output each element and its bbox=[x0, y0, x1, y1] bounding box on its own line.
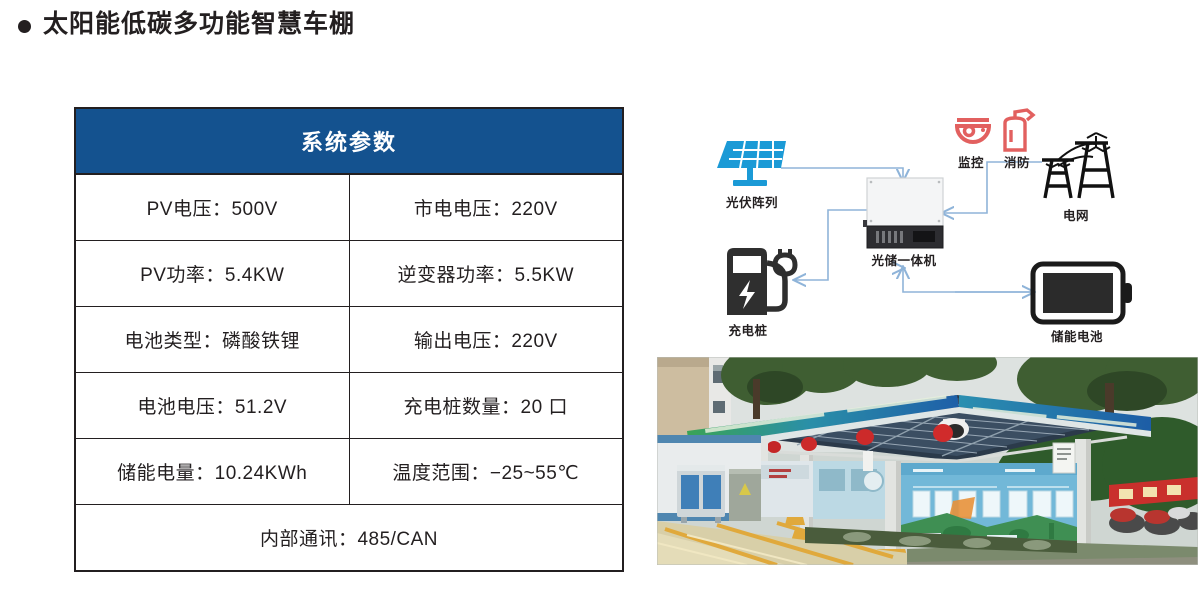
diagram-label-inverter: 光储一体机 bbox=[871, 250, 936, 269]
diagram-label-pv: 光伏阵列 bbox=[726, 192, 778, 211]
table-row: PV功率：5.4KW 逆变器功率：5.5KW bbox=[76, 241, 622, 307]
diagram-label-battery: 储能电池 bbox=[1051, 326, 1103, 345]
table-cell: 输出电压：220V bbox=[350, 307, 623, 372]
ev-charger-icon bbox=[727, 248, 795, 315]
table-cell: 储能电量：10.24KWh bbox=[76, 439, 350, 504]
diagram-label-grid: 电网 bbox=[1063, 205, 1089, 224]
diagram-canvas bbox=[655, 100, 1200, 350]
table-cell: 内部通讯：485/CAN bbox=[76, 505, 622, 570]
inverter-cabinet-icon bbox=[863, 178, 943, 248]
fire-extinguisher-icon bbox=[1005, 110, 1033, 150]
table-cell: 电池电压：51.2V bbox=[76, 373, 350, 438]
bullet-dot-icon bbox=[18, 20, 31, 33]
solar-carport-photo bbox=[657, 357, 1198, 565]
table-cell: 市电电压：220V bbox=[350, 175, 623, 240]
table-cell: PV功率：5.4KW bbox=[76, 241, 350, 306]
camera-led-icon bbox=[981, 128, 985, 132]
diagram-label-monitor: 监控 bbox=[958, 152, 984, 171]
table-row-merged: 内部通讯：485/CAN bbox=[76, 505, 622, 570]
table-cell: 温度范围：−25~55℃ bbox=[350, 439, 623, 504]
table-cell: PV电压：500V bbox=[76, 175, 350, 240]
page-title-text: 太阳能低碳多功能智慧车棚 bbox=[43, 12, 355, 37]
table-row: 电池类型：磷酸铁锂 输出电压：220V bbox=[76, 307, 622, 373]
table-cell: 电池类型：磷酸铁锂 bbox=[76, 307, 350, 372]
system-parameters-table: 系统参数 PV电压：500V 市电电压：220V PV功率：5.4KW 逆变器功… bbox=[74, 107, 624, 572]
flow-battery-to-inverter bbox=[903, 268, 1030, 292]
table-header-label: 系统参数 bbox=[301, 125, 397, 157]
table-header-row: 系统参数 bbox=[76, 109, 622, 175]
power-tower-icon bbox=[1042, 133, 1113, 198]
table-cell: 充电桩数量：20 口 bbox=[350, 373, 623, 438]
table-row: 储能电量：10.24KWh 温度范围：−25~55℃ bbox=[76, 439, 622, 505]
solar-panel-icon bbox=[717, 141, 786, 186]
diagram-label-charger: 充电桩 bbox=[728, 320, 767, 339]
table-row: PV电压：500V 市电电压：220V bbox=[76, 175, 622, 241]
diagram-label-fire: 消防 bbox=[1004, 152, 1030, 171]
battery-icon bbox=[1033, 264, 1132, 322]
flow-inverter-to-charger bbox=[795, 210, 867, 280]
system-flow-diagram: 光伏阵列 监控 消防 电网 光储一体机 充电桩 储能电池 bbox=[655, 100, 1200, 350]
page-title: 太阳能低碳多功能智慧车棚 bbox=[18, 12, 355, 37]
table-cell: 逆变器功率：5.5KW bbox=[350, 241, 623, 306]
table-row: 电池电压：51.2V 充电桩数量：20 口 bbox=[76, 373, 622, 439]
